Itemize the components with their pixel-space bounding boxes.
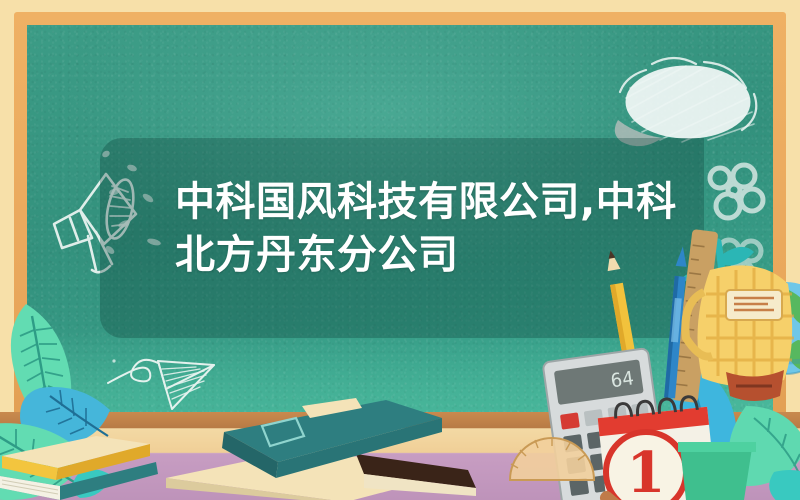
svg-text:64: 64 (609, 367, 635, 392)
book-stack-center (150, 392, 480, 500)
svg-text:1: 1 (627, 440, 666, 500)
book-stack-left (0, 430, 164, 500)
objects-right-group: 64 (540, 236, 800, 500)
banner-image: 中科国风科技有限公司,中科北方丹东分公司 (0, 0, 800, 500)
potted-plant-pot (678, 442, 756, 500)
